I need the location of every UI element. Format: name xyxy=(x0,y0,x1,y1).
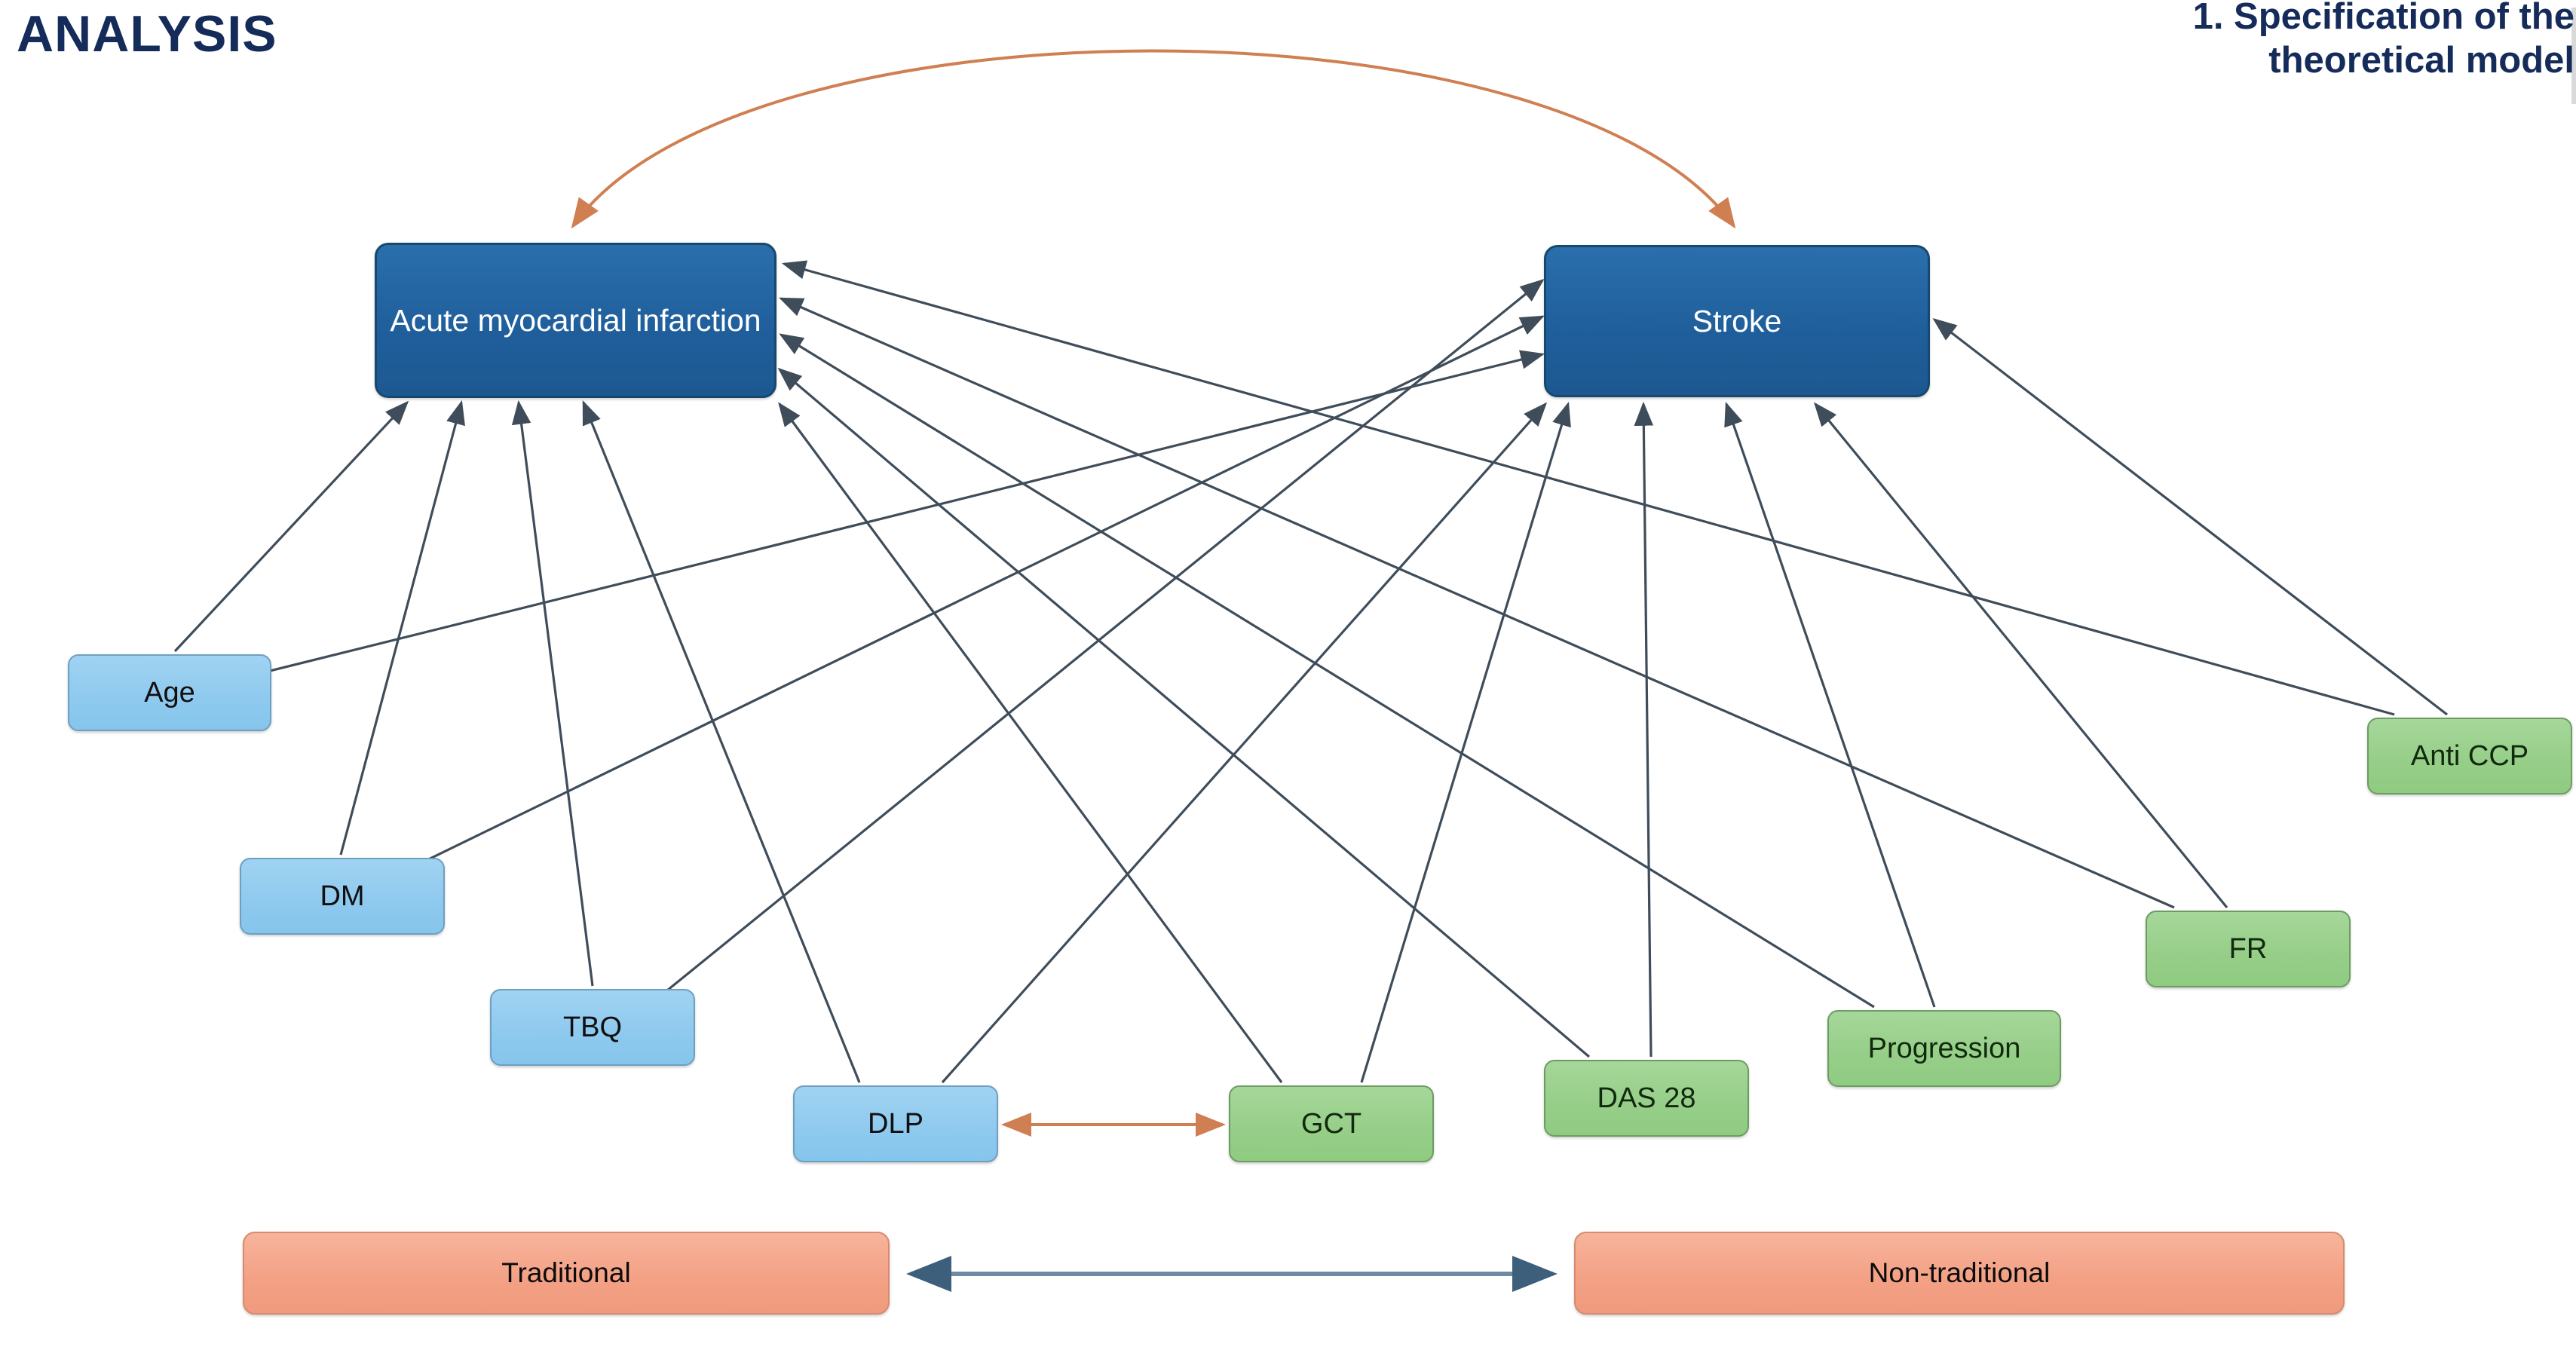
node-label: Age xyxy=(144,675,195,712)
node-label: DAS 28 xyxy=(1597,1080,1696,1117)
node-dlp[interactable]: DLP xyxy=(793,1085,998,1162)
node-label: Stroke xyxy=(1692,302,1782,341)
node-das-28[interactable]: DAS 28 xyxy=(1544,1060,1749,1137)
node-gct[interactable]: GCT xyxy=(1229,1085,1434,1162)
node-stroke[interactable]: Stroke xyxy=(1544,245,1930,397)
node-label: Progression xyxy=(1868,1030,2021,1067)
node-age[interactable]: Age xyxy=(68,654,271,731)
group-label: Traditional xyxy=(501,1255,630,1290)
node-tbq[interactable]: TBQ xyxy=(490,989,695,1066)
correlation-ami-stroke xyxy=(573,51,1734,227)
node-progression[interactable]: Progression xyxy=(1827,1010,2061,1087)
group-non-traditional[interactable]: Non-traditional xyxy=(1574,1232,2345,1315)
slide-canvas: ANALYSIS 1. Specification of the theoret… xyxy=(0,0,2576,1350)
node-dm[interactable]: DM xyxy=(240,858,445,935)
group-label: Non-traditional xyxy=(1869,1255,2051,1290)
node-label: DLP xyxy=(868,1106,924,1143)
node-label: Anti CCP xyxy=(2411,738,2529,775)
group-traditional[interactable]: Traditional xyxy=(243,1232,890,1315)
node-fr[interactable]: FR xyxy=(2146,911,2351,987)
node-label: DM xyxy=(320,878,364,915)
node-label: FR xyxy=(2229,931,2268,968)
node-label: TBQ xyxy=(563,1009,622,1046)
node-label: Acute myocardial infarction xyxy=(390,301,761,340)
node-acute-myocardial-infarction[interactable]: Acute myocardial infarction xyxy=(375,243,776,398)
node-label: GCT xyxy=(1301,1106,1362,1143)
node-anti-ccp[interactable]: Anti CCP xyxy=(2367,718,2572,794)
